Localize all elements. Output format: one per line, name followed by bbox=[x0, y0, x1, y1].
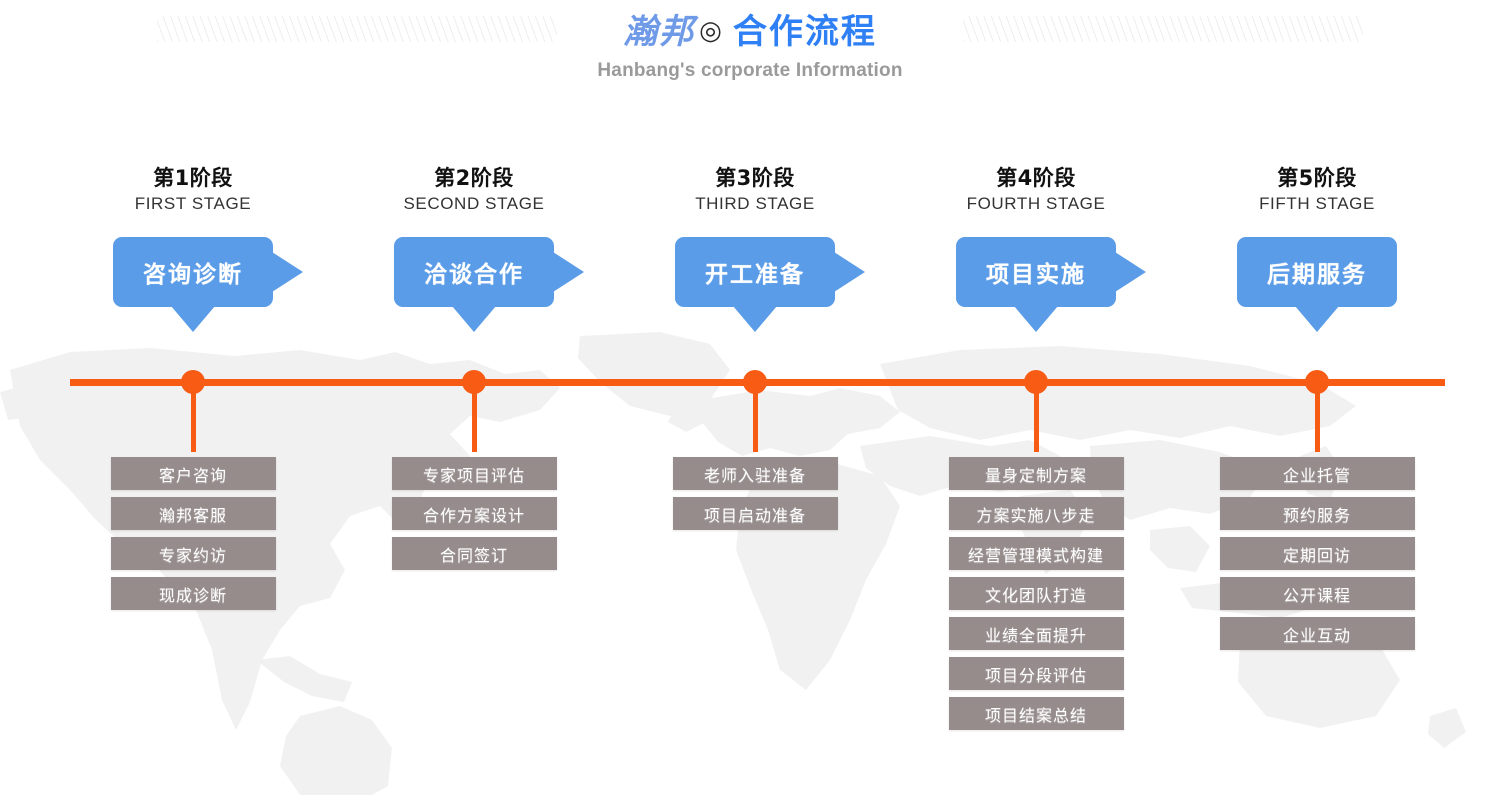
timeline-stem bbox=[191, 382, 196, 452]
stage-item-label: 项目分段评估 bbox=[985, 662, 1087, 686]
stage-item[interactable]: 定期回访 bbox=[1220, 537, 1415, 570]
stage-title-cn: 第5阶段 bbox=[1176, 162, 1458, 192]
stage-item-label: 专家项目评估 bbox=[423, 462, 525, 486]
stage-item[interactable]: 现成诊断 bbox=[111, 577, 276, 610]
stage-badge-label: 咨询诊断 bbox=[143, 255, 243, 289]
badge-arrow-down-icon bbox=[1295, 306, 1339, 332]
stage-item[interactable]: 老师入驻准备 bbox=[673, 457, 838, 490]
stage-badge-label: 项目实施 bbox=[986, 255, 1086, 289]
infographic-root: 瀚邦◎合作流程 Hanbang's corporate Information … bbox=[0, 0, 1500, 795]
badge-arrow-down-icon bbox=[452, 306, 496, 332]
stage-badge-wrapper: 洽谈合作 bbox=[333, 237, 615, 352]
badge-arrow-down-icon bbox=[733, 306, 777, 332]
stage-item-label: 定期回访 bbox=[1283, 542, 1351, 566]
stage-item[interactable]: 合同签订 bbox=[392, 537, 557, 570]
stage-item[interactable]: 客户咨询 bbox=[111, 457, 276, 490]
stage-badge[interactable]: 咨询诊断 bbox=[113, 237, 273, 307]
stage-badge-label: 后期服务 bbox=[1267, 255, 1367, 289]
stage-item-label: 方案实施八步走 bbox=[976, 502, 1095, 526]
stage-badge-wrapper: 开工准备 bbox=[614, 237, 896, 352]
stage-item[interactable]: 公开课程 bbox=[1220, 577, 1415, 610]
stage-item-label: 量身定制方案 bbox=[985, 462, 1087, 486]
stage-item-label: 专家约访 bbox=[159, 542, 227, 566]
stage-item-label: 项目结案总结 bbox=[985, 702, 1087, 726]
stage-item-label: 预约服务 bbox=[1283, 502, 1351, 526]
timeline-stem bbox=[1034, 382, 1039, 452]
stage-item-label: 文化团队打造 bbox=[985, 582, 1087, 606]
stage-item-list: 老师入驻准备项目启动准备 bbox=[614, 457, 896, 537]
badge-arrow-right-icon bbox=[272, 252, 303, 292]
stage-item-label: 老师入驻准备 bbox=[704, 462, 806, 486]
stage-item-list: 量身定制方案方案实施八步走经营管理模式构建文化团队打造业绩全面提升项目分段评估项… bbox=[895, 457, 1177, 737]
stage-badge-label: 洽谈合作 bbox=[424, 255, 524, 289]
stage-item[interactable]: 企业托管 bbox=[1220, 457, 1415, 490]
badge-arrow-right-icon bbox=[834, 252, 865, 292]
stage-title-en: THIRD STAGE bbox=[614, 194, 896, 214]
stage-item[interactable]: 预约服务 bbox=[1220, 497, 1415, 530]
badge-arrow-down-icon bbox=[171, 306, 215, 332]
stage-badge[interactable]: 后期服务 bbox=[1237, 237, 1397, 307]
stage-item[interactable]: 经营管理模式构建 bbox=[949, 537, 1124, 570]
stage-item[interactable]: 项目分段评估 bbox=[949, 657, 1124, 690]
stage-title-cn: 第1阶段 bbox=[52, 162, 334, 192]
stage-title-en: FIRST STAGE bbox=[52, 194, 334, 214]
stage-item[interactable]: 企业互动 bbox=[1220, 617, 1415, 650]
stage-title-cn: 第4阶段 bbox=[895, 162, 1177, 192]
stage-item-label: 项目启动准备 bbox=[704, 502, 806, 526]
stage-item[interactable]: 专家项目评估 bbox=[392, 457, 557, 490]
stage-item[interactable]: 文化团队打造 bbox=[949, 577, 1124, 610]
stage-badge-label: 开工准备 bbox=[705, 255, 805, 289]
stage-item-label: 经营管理模式构建 bbox=[968, 542, 1104, 566]
stage-item-list: 客户咨询瀚邦客服专家约访现成诊断 bbox=[52, 457, 334, 617]
stage-item-label: 企业互动 bbox=[1283, 622, 1351, 646]
stage-title-en: SECOND STAGE bbox=[333, 194, 615, 214]
stage-item-list: 专家项目评估合作方案设计合同签订 bbox=[333, 457, 615, 577]
badge-arrow-down-icon bbox=[1014, 306, 1058, 332]
stage-title-cn: 第2阶段 bbox=[333, 162, 615, 192]
stage-item[interactable]: 瀚邦客服 bbox=[111, 497, 276, 530]
stage-item[interactable]: 项目结案总结 bbox=[949, 697, 1124, 730]
stage-title-en: FIFTH STAGE bbox=[1176, 194, 1458, 214]
stage-item-list: 企业托管预约服务定期回访公开课程企业互动 bbox=[1176, 457, 1458, 657]
stage-badge[interactable]: 开工准备 bbox=[675, 237, 835, 307]
stage-item-label: 瀚邦客服 bbox=[159, 502, 227, 526]
stage-badge-wrapper: 后期服务 bbox=[1176, 237, 1458, 352]
stage-item[interactable]: 专家约访 bbox=[111, 537, 276, 570]
badge-arrow-right-icon bbox=[1115, 252, 1146, 292]
stage-item-label: 合作方案设计 bbox=[423, 502, 525, 526]
stage-badge[interactable]: 项目实施 bbox=[956, 237, 1116, 307]
stage-item[interactable]: 合作方案设计 bbox=[392, 497, 557, 530]
timeline-stem bbox=[1315, 382, 1320, 452]
stage-title-cn: 第3阶段 bbox=[614, 162, 896, 192]
stage-item-label: 现成诊断 bbox=[159, 582, 227, 606]
stage-title-en: FOURTH STAGE bbox=[895, 194, 1177, 214]
badge-arrow-right-icon bbox=[553, 252, 584, 292]
stage-badge-wrapper: 咨询诊断 bbox=[52, 237, 334, 352]
stage-item[interactable]: 项目启动准备 bbox=[673, 497, 838, 530]
stage-badge-wrapper: 项目实施 bbox=[895, 237, 1177, 352]
stage-item-label: 客户咨询 bbox=[159, 462, 227, 486]
stage-item[interactable]: 量身定制方案 bbox=[949, 457, 1124, 490]
stage-item-label: 业绩全面提升 bbox=[985, 622, 1087, 646]
timeline-stem bbox=[472, 382, 477, 452]
timeline-stem bbox=[753, 382, 758, 452]
stage-item-label: 公开课程 bbox=[1283, 582, 1351, 606]
stage-columns: 第1阶段FIRST STAGE咨询诊断客户咨询瀚邦客服专家约访现成诊断第2阶段S… bbox=[0, 0, 1500, 795]
stage-item[interactable]: 业绩全面提升 bbox=[949, 617, 1124, 650]
stage-item-label: 合同签订 bbox=[440, 542, 508, 566]
stage-item[interactable]: 方案实施八步走 bbox=[949, 497, 1124, 530]
stage-item-label: 企业托管 bbox=[1283, 462, 1351, 486]
stage-badge[interactable]: 洽谈合作 bbox=[394, 237, 554, 307]
